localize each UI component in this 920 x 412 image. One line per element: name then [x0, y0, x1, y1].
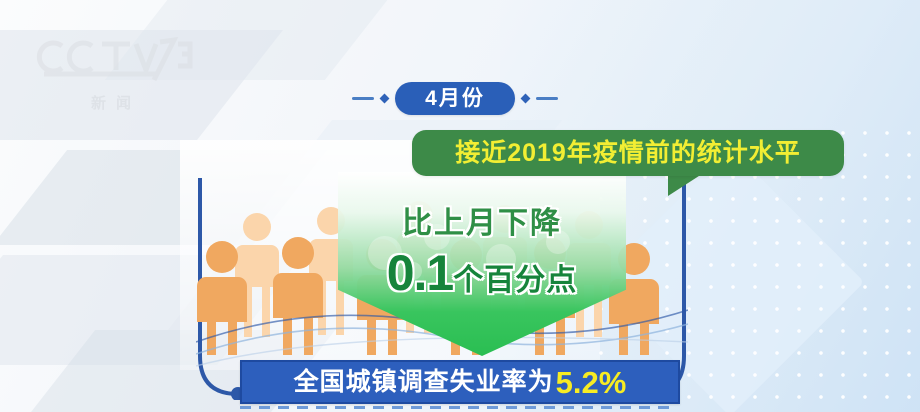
infographic-stage: 新闻	[0, 0, 920, 412]
callout-tail	[668, 174, 702, 196]
decor-dash-right	[536, 97, 558, 100]
decor-dash-left	[352, 97, 374, 100]
decor-diamond-right	[520, 93, 530, 103]
month-pill: 4月份	[395, 82, 515, 115]
arrow-caption-line1: 比上月下降	[338, 198, 626, 242]
result-banner: 全国城镇调查失业率为 5.2%	[240, 360, 680, 404]
result-banner-label: 全国城镇调查失业率为	[294, 370, 554, 395]
month-title-group: 4月份	[330, 78, 580, 118]
arrow-caption-line2: 0.1个百分点	[338, 248, 626, 299]
result-banner-value: 5.2%	[556, 367, 627, 398]
decor-diamond-left	[380, 93, 390, 103]
green-callout-text: 接近2019年疫情前的统计水平	[455, 141, 801, 166]
arrow-value: 0.1	[387, 245, 454, 301]
arrow-unit: 个百分点	[453, 264, 577, 297]
cctv13-logo: 新闻	[28, 30, 198, 90]
green-callout: 接近2019年疫情前的统计水平	[412, 130, 844, 176]
cctv13-logo-sub: 新闻	[91, 92, 141, 113]
banner-dashed-underline	[240, 406, 676, 409]
